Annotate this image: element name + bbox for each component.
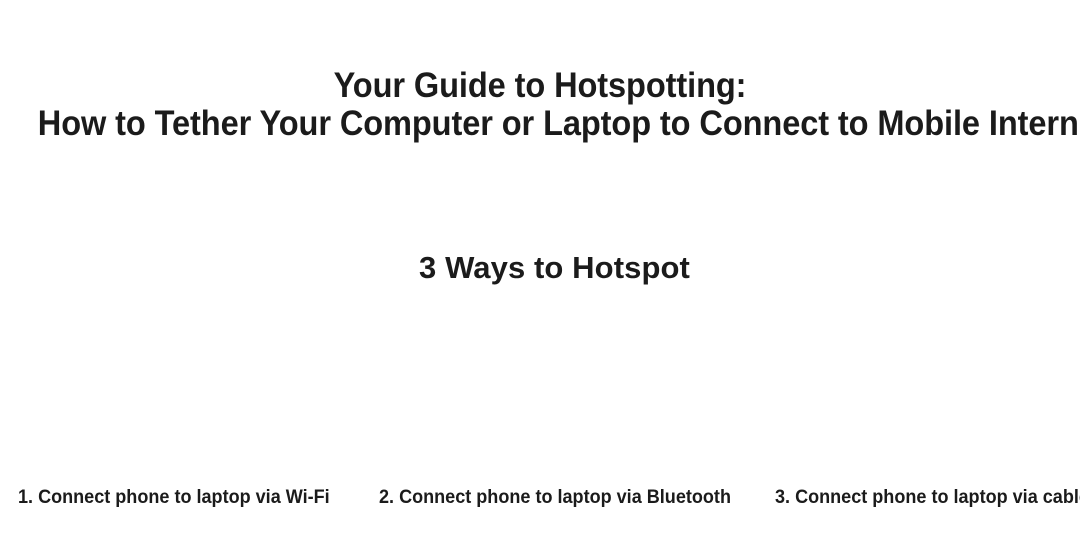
method-figure-3: [720, 286, 1080, 476]
method-figure-2: [360, 286, 720, 476]
method-captions: 1. Connect phone to laptop via Wi-Fi 2. …: [0, 487, 1080, 513]
bluetooth-tethering-illustration: [360, 286, 720, 476]
page-title: Your Guide to Hotspotting: How to Tether…: [38, 67, 1042, 143]
wifi-tethering-illustration: [0, 286, 360, 476]
section-heading: 3 Ways to Hotspot: [0, 248, 1080, 288]
method-caption-2: 2. Connect phone to laptop via Bluetooth: [379, 487, 731, 509]
cable-tethering-illustration: [720, 286, 1080, 476]
method-figure-1: [0, 286, 360, 476]
infographic-page: Your Guide to Hotspotting: How to Tether…: [0, 0, 1080, 552]
page-title-line-1: Your Guide to Hotspotting:: [38, 67, 1042, 105]
page-title-line-2: How to Tether Your Computer or Laptop to…: [38, 105, 1042, 143]
method-caption-3: 3. Connect phone to laptop via cable: [775, 487, 1080, 509]
methods-illustration-band: [0, 286, 1080, 476]
method-caption-1: 1. Connect phone to laptop via Wi-Fi: [18, 487, 330, 509]
